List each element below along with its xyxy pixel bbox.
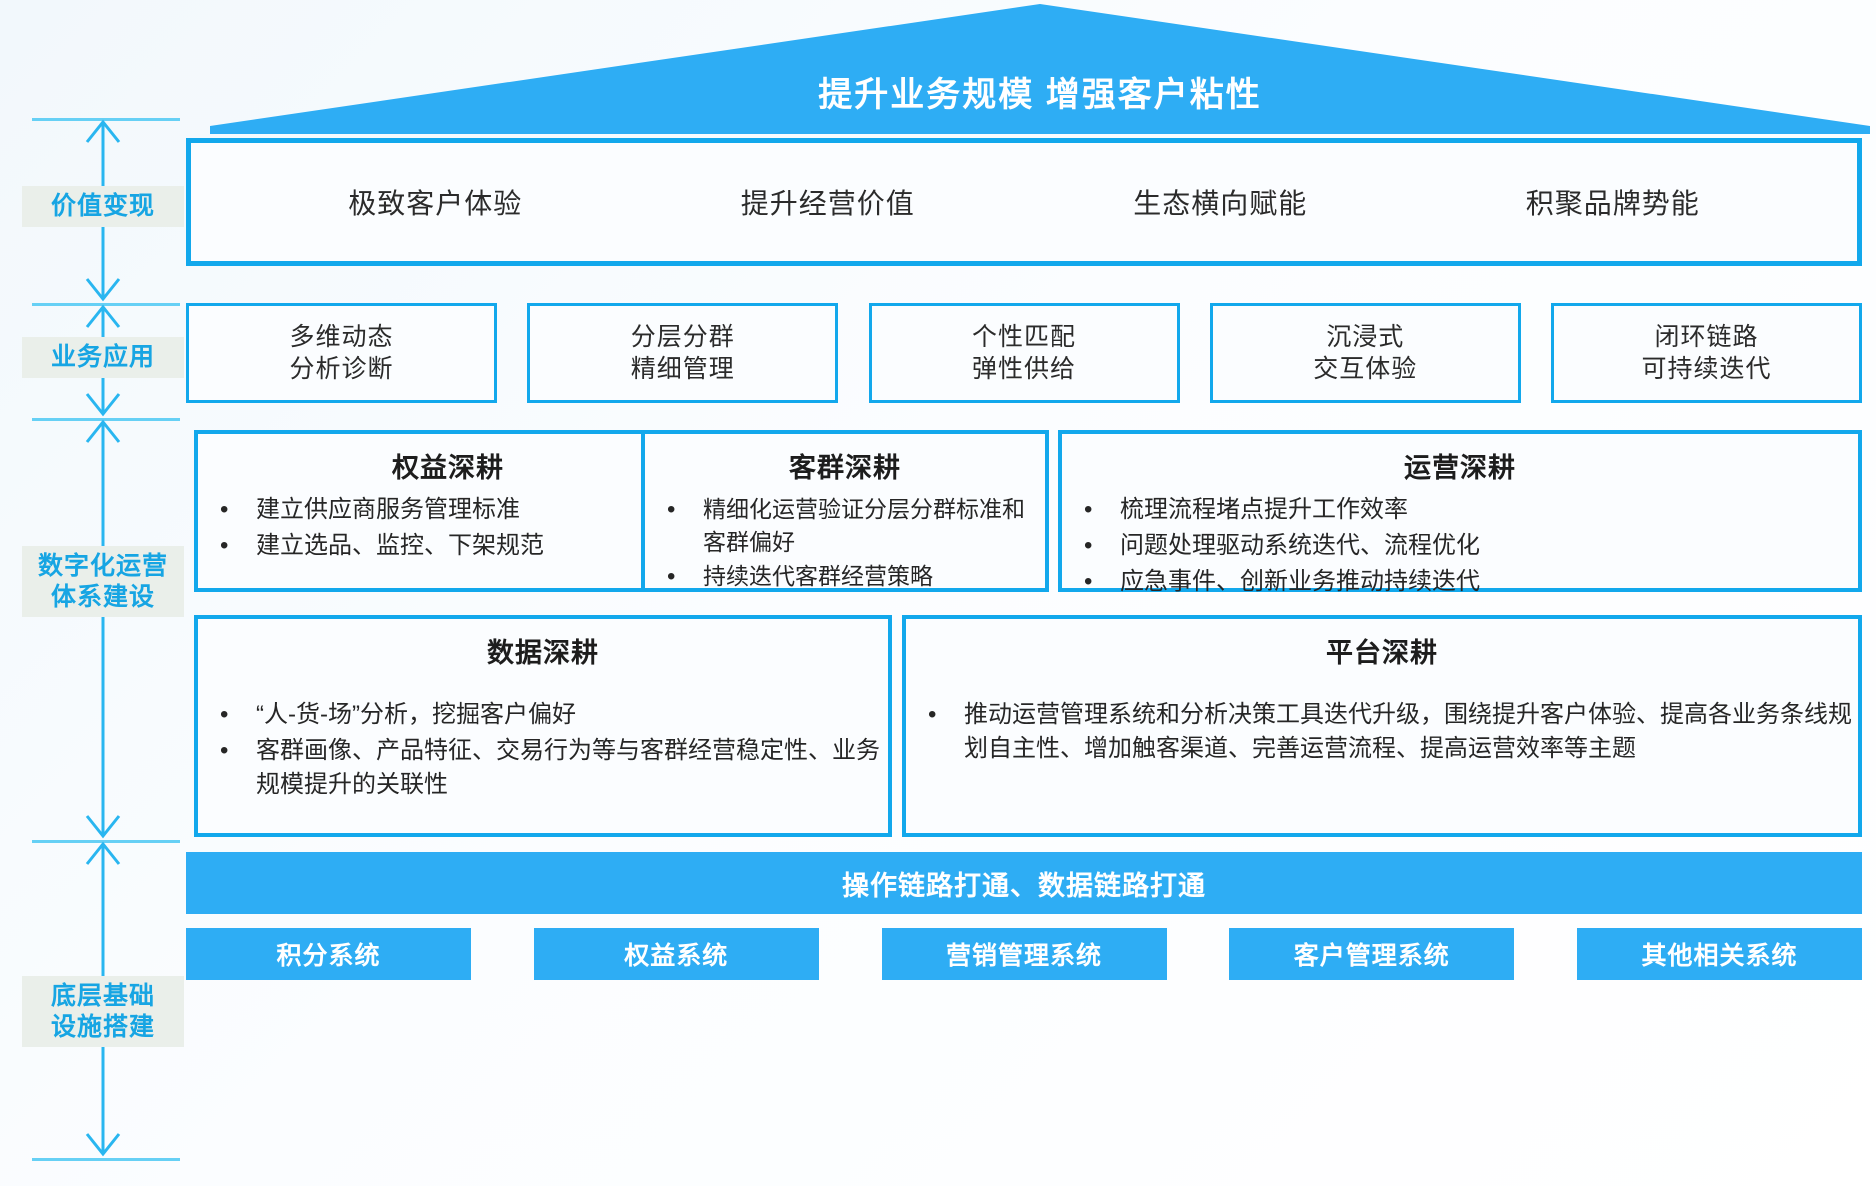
sidebar-stage-digital-ops-line1: 数字化运营 bbox=[22, 551, 184, 582]
bullet-text: 客群画像、产品特征、交易行为等与客群经营稳定性、业务规模提升的关联性 bbox=[256, 737, 880, 798]
bullet-text: 问题处理驱动系统迭代、流程优化 bbox=[1120, 532, 1480, 559]
bullet-dot-icon: • bbox=[1084, 565, 1092, 599]
system-chip-points[interactable]: 积分系统 bbox=[186, 928, 471, 980]
list-item: •应急事件、创新业务推动持续迭代 bbox=[1068, 565, 1852, 599]
app-card-3-line1: 沉浸式 bbox=[1326, 321, 1404, 353]
sidebar-stage-foundation[interactable]: 底层基础 设施搭建 bbox=[22, 976, 184, 1047]
bullet-dot-icon: • bbox=[220, 529, 228, 563]
app-card-4-line2: 可持续迭代 bbox=[1641, 353, 1771, 385]
deep-card-data[interactable]: 数据深耕 •“人-货-场”分析，挖掘客户偏好 •客群画像、产品特征、交易行为等与… bbox=[194, 615, 892, 837]
value-item-2: 生态横向赋能 bbox=[1133, 182, 1307, 222]
app-card-1-line2: 精细管理 bbox=[631, 353, 735, 385]
value-item-0: 极致客户体验 bbox=[348, 182, 522, 222]
sidebar-stage-digital-ops-line2: 体系建设 bbox=[22, 582, 184, 613]
list-item: •持续迭代客群经营策略 bbox=[651, 560, 1039, 593]
list-item: •精细化运营验证分层分群标准和客群偏好 bbox=[651, 493, 1039, 558]
value-item-3: 积聚品牌势能 bbox=[1526, 182, 1700, 222]
bullet-dot-icon: • bbox=[667, 493, 675, 527]
deep-card-equity-bullets: •建立供应商服务管理标准 •建立选品、监控、下架规范 bbox=[204, 493, 692, 563]
system-chip-marketing[interactable]: 营销管理系统 bbox=[882, 928, 1167, 980]
app-card-0-line1: 多维动态 bbox=[289, 321, 393, 353]
bullet-dot-icon: • bbox=[220, 493, 228, 527]
app-card-3-line2: 交互体验 bbox=[1313, 353, 1417, 385]
foundation-systems-row: 积分系统 权益系统 营销管理系统 客户管理系统 其他相关系统 bbox=[186, 928, 1862, 980]
bullet-dot-icon: • bbox=[1084, 529, 1092, 563]
bullet-text: 推动运营管理系统和分析决策工具迭代升级，围绕提升客户体验、提高各业务条线规划自主… bbox=[964, 701, 1852, 762]
business-application-row: 多维动态 分析诊断 分层分群 精细管理 个性匹配 弹性供给 沉浸式 交互体验 闭… bbox=[186, 303, 1862, 403]
bullet-text: 精细化运营验证分层分群标准和客群偏好 bbox=[703, 496, 1025, 555]
app-card-multidim-analysis[interactable]: 多维动态 分析诊断 bbox=[186, 303, 497, 403]
bullet-text: 持续迭代客群经营策略 bbox=[703, 563, 933, 589]
deep-cultivation-row-2: 数据深耕 •“人-货-场”分析，挖掘客户偏好 •客群画像、产品特征、交易行为等与… bbox=[186, 615, 1862, 837]
bullet-text: 建立选品、监控、下架规范 bbox=[256, 532, 544, 559]
sidebar-stage-apps[interactable]: 业务应用 bbox=[22, 337, 184, 378]
stage-axis-sidebar: 价值变现 业务应用 数字化运营 体系建设 底层基础 设施搭建 bbox=[14, 118, 192, 1178]
bullet-dot-icon: • bbox=[220, 734, 228, 768]
app-card-0-line2: 分析诊断 bbox=[289, 353, 393, 385]
list-item: •建立供应商服务管理标准 bbox=[204, 493, 692, 527]
deep-card-data-bullets: •“人-货-场”分析，挖掘客户偏好 •客群画像、产品特征、交易行为等与客群经营稳… bbox=[204, 698, 882, 802]
system-chip-equity[interactable]: 权益系统 bbox=[534, 928, 819, 980]
app-card-segmentation[interactable]: 分层分群 精细管理 bbox=[527, 303, 838, 403]
bullet-text: 建立供应商服务管理标准 bbox=[256, 496, 520, 523]
diagram-main-column: 极致客户体验 提升经营价值 生态横向赋能 积聚品牌势能 多维动态 分析诊断 分层… bbox=[186, 0, 1864, 1186]
list-item: •梳理流程堵点提升工作效率 bbox=[1068, 493, 1852, 527]
app-card-1-line1: 分层分群 bbox=[631, 321, 735, 353]
app-card-closed-loop[interactable]: 闭环链路 可持续迭代 bbox=[1551, 303, 1862, 403]
deep-card-platform[interactable]: 平台深耕 •推动运营管理系统和分析决策工具迭代升级，围绕提升客户体验、提高各业务… bbox=[902, 615, 1862, 837]
sidebar-stage-value[interactable]: 价值变现 bbox=[22, 186, 184, 227]
deep-card-equity-title: 权益深耕 bbox=[204, 446, 692, 485]
deep-card-customer-group[interactable]: 客群深耕 •精细化运营验证分层分群标准和客群偏好 •持续迭代客群经营策略 bbox=[641, 430, 1049, 592]
system-chip-other[interactable]: 其他相关系统 bbox=[1577, 928, 1862, 980]
sidebar-stage-foundation-line2: 设施搭建 bbox=[22, 1012, 184, 1043]
deep-card-platform-bullets: •推动运营管理系统和分析决策工具迭代升级，围绕提升客户体验、提高各业务条线规划自… bbox=[912, 698, 1852, 766]
deep-card-customer-group-title: 客群深耕 bbox=[651, 446, 1039, 485]
list-item: •推动运营管理系统和分析决策工具迭代升级，围绕提升客户体验、提高各业务条线规划自… bbox=[912, 698, 1852, 766]
system-chip-customer[interactable]: 客户管理系统 bbox=[1229, 928, 1514, 980]
value-item-1: 提升经营价值 bbox=[741, 182, 915, 222]
bullet-text: 梳理流程堵点提升工作效率 bbox=[1120, 496, 1408, 523]
list-item: •“人-货-场”分析，挖掘客户偏好 bbox=[204, 698, 882, 732]
bullet-dot-icon: • bbox=[667, 560, 675, 594]
bullet-dot-icon: • bbox=[220, 698, 228, 732]
bullet-dot-icon: • bbox=[928, 698, 936, 732]
foundation-link-bar: 操作链路打通、数据链路打通 bbox=[186, 852, 1862, 914]
list-item: •问题处理驱动系统迭代、流程优化 bbox=[1068, 529, 1852, 563]
app-card-immersive[interactable]: 沉浸式 交互体验 bbox=[1210, 303, 1521, 403]
app-card-personal-match[interactable]: 个性匹配 弹性供给 bbox=[869, 303, 1180, 403]
deep-card-operations[interactable]: 运营深耕 •梳理流程堵点提升工作效率 •问题处理驱动系统迭代、流程优化 •应急事… bbox=[1058, 430, 1862, 592]
deep-card-platform-title: 平台深耕 bbox=[912, 631, 1852, 670]
value-layer-box: 极致客户体验 提升经营价值 生态横向赋能 积聚品牌势能 bbox=[186, 138, 1862, 266]
arrow-digital-ops bbox=[14, 418, 192, 840]
bullet-text: “人-货-场”分析，挖掘客户偏好 bbox=[256, 701, 576, 728]
list-item: •建立选品、监控、下架规范 bbox=[204, 529, 692, 563]
sidebar-stage-digital-ops[interactable]: 数字化运营 体系建设 bbox=[22, 546, 184, 617]
deep-card-equity[interactable]: 权益深耕 •建立供应商服务管理标准 •建立选品、监控、下架规范 bbox=[194, 430, 702, 592]
deep-card-operations-title: 运营深耕 bbox=[1068, 446, 1852, 485]
deep-cultivation-row-1: 权益深耕 •建立供应商服务管理标准 •建立选品、监控、下架规范 客群深耕 •精细… bbox=[186, 430, 1862, 592]
sidebar-stage-foundation-line1: 底层基础 bbox=[22, 981, 184, 1012]
deep-card-operations-bullets: •梳理流程堵点提升工作效率 •问题处理驱动系统迭代、流程优化 •应急事件、创新业… bbox=[1068, 493, 1852, 599]
deep-card-data-title: 数据深耕 bbox=[204, 631, 882, 670]
bullet-text: 应急事件、创新业务推动持续迭代 bbox=[1120, 568, 1480, 595]
app-card-4-line1: 闭环链路 bbox=[1654, 321, 1758, 353]
app-card-2-line2: 弹性供给 bbox=[972, 353, 1076, 385]
deep-card-customer-group-bullets: •精细化运营验证分层分群标准和客群偏好 •持续迭代客群经营策略 bbox=[651, 493, 1039, 593]
axis-rule-bottom bbox=[32, 1158, 180, 1161]
diagram-canvas: 提升业务规模 增强客户粘性 bbox=[0, 0, 1876, 1186]
list-item: •客群画像、产品特征、交易行为等与客群经营稳定性、业务规模提升的关联性 bbox=[204, 734, 882, 802]
bullet-dot-icon: • bbox=[1084, 493, 1092, 527]
app-card-2-line1: 个性匹配 bbox=[972, 321, 1076, 353]
